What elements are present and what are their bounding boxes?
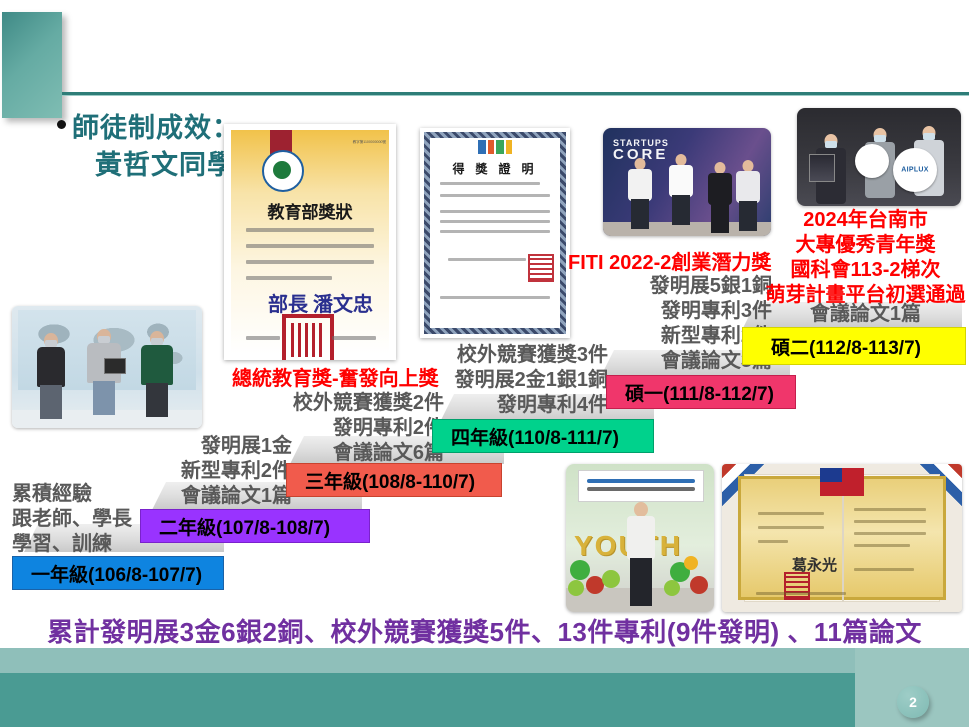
photo-core-brand: STARTUPS CORE xyxy=(613,138,669,160)
achievements-master1: 發明展5銀1銅 發明專利3件 新型專利2件 會議論文3篇 xyxy=(560,274,772,374)
cert-moe-signature: 部長 潘文忠 xyxy=(268,288,373,317)
youth-elite-certificate-photo: 葛永光 xyxy=(722,464,962,612)
band-year2[interactable]: 二年級(107/8-108/7) xyxy=(140,509,370,543)
band-master2[interactable]: 碩二(112/8-113/7) xyxy=(742,327,966,365)
aiplux-team-photo: AIPLUX xyxy=(797,108,961,206)
slide-canvas: 師徒制成效： 黃哲文同學 教字第1100000000號 教育部獎狀 部長 潘文忠… xyxy=(0,0,969,727)
achievements-master2: 會議論文1篇 xyxy=(762,302,969,327)
band-year4[interactable]: 四年級(110/8-111/7) xyxy=(432,419,654,453)
band-year1[interactable]: 一年級(106/8-107/7) xyxy=(12,556,224,590)
achievement-line: 發明專利2件 xyxy=(232,416,444,441)
summary-text: 累計發明展3金6銀2銅、校外競賽獲獎5件、13件專利(9件發明) 、11篇論文 xyxy=(0,612,969,649)
achievement-line: 會議論文1篇 xyxy=(762,302,969,327)
achievement-line: 跟老師、學長 xyxy=(12,507,132,532)
band-year1-label: 一年級(106/8-107/7) xyxy=(31,560,202,587)
startups-core-team-photo: STARTUPS CORE xyxy=(603,128,771,236)
achievements-master2-headline: 2024年台南市 大專優秀青年獎 國科會113-2梯次 萌芽計畫平台初選通過 xyxy=(762,208,969,308)
achievement-line: 發明展5銀1銅 xyxy=(560,274,772,299)
achievement-line: 新型專利2件 xyxy=(560,324,772,349)
achievement-line: 發明專利3件 xyxy=(560,299,772,324)
achievements-year1: 累積經驗 跟老師、學長 學習、訓練 xyxy=(12,482,132,557)
achievement-line: 發明專利4件 xyxy=(398,393,608,418)
band-master1[interactable]: 碩一(111/8-112/7) xyxy=(606,375,796,409)
youth-balloons-photo: YOUTH xyxy=(566,464,714,612)
cert-proof-title: 得 獎 證 明 xyxy=(420,160,570,177)
achievement-line: 大專優秀青年獎 xyxy=(762,233,969,258)
achievement-line: 會議論文3篇 xyxy=(560,349,772,374)
header-rule-light xyxy=(62,95,969,96)
achievement-line: 會議論文1篇 xyxy=(150,484,292,509)
header-accent-block xyxy=(2,12,62,118)
achievement-line: 2024年台南市 xyxy=(762,208,969,233)
band-year3-label: 三年級(108/8-110/7) xyxy=(305,467,475,494)
achievement-line: 學習、訓練 xyxy=(12,532,132,557)
band-year2-label: 二年級(107/8-108/7) xyxy=(159,513,330,540)
band-year3[interactable]: 三年級(108/8-110/7) xyxy=(286,463,502,497)
footer-dark-band xyxy=(0,673,855,727)
award-proof-certificate: 得 獎 證 明 xyxy=(420,128,570,338)
band-master2-label: 碩二(112/8-113/7) xyxy=(771,333,921,360)
bullet-icon xyxy=(57,120,66,129)
page-title-line2: 黃哲文同學 xyxy=(95,143,235,182)
footer-light-band xyxy=(0,648,969,673)
page-title-line1: 師徒制成效： xyxy=(72,106,240,145)
cert-code-text: 教字第1100000000號 xyxy=(353,140,386,145)
achievement-line: 國科會113-2梯次 xyxy=(762,258,969,283)
band-master1-label: 碩一(111/8-112/7) xyxy=(625,379,774,406)
three-students-world-map-photo xyxy=(12,306,202,428)
aiplux-disc-label: AIPLUX xyxy=(901,167,928,174)
achievement-line: 累積經驗 xyxy=(12,482,132,507)
ministry-of-education-award-certificate: 教字第1100000000號 教育部獎狀 部長 潘文忠 xyxy=(224,124,396,360)
cert-moe-title: 教育部獎狀 xyxy=(224,198,396,223)
achievements-master1-headline: FITI 2022-2創業潛力獎 xyxy=(568,251,771,276)
page-number-badge: 2 xyxy=(897,686,929,718)
band-year4-label: 四年級(110/8-111/7) xyxy=(451,423,619,450)
